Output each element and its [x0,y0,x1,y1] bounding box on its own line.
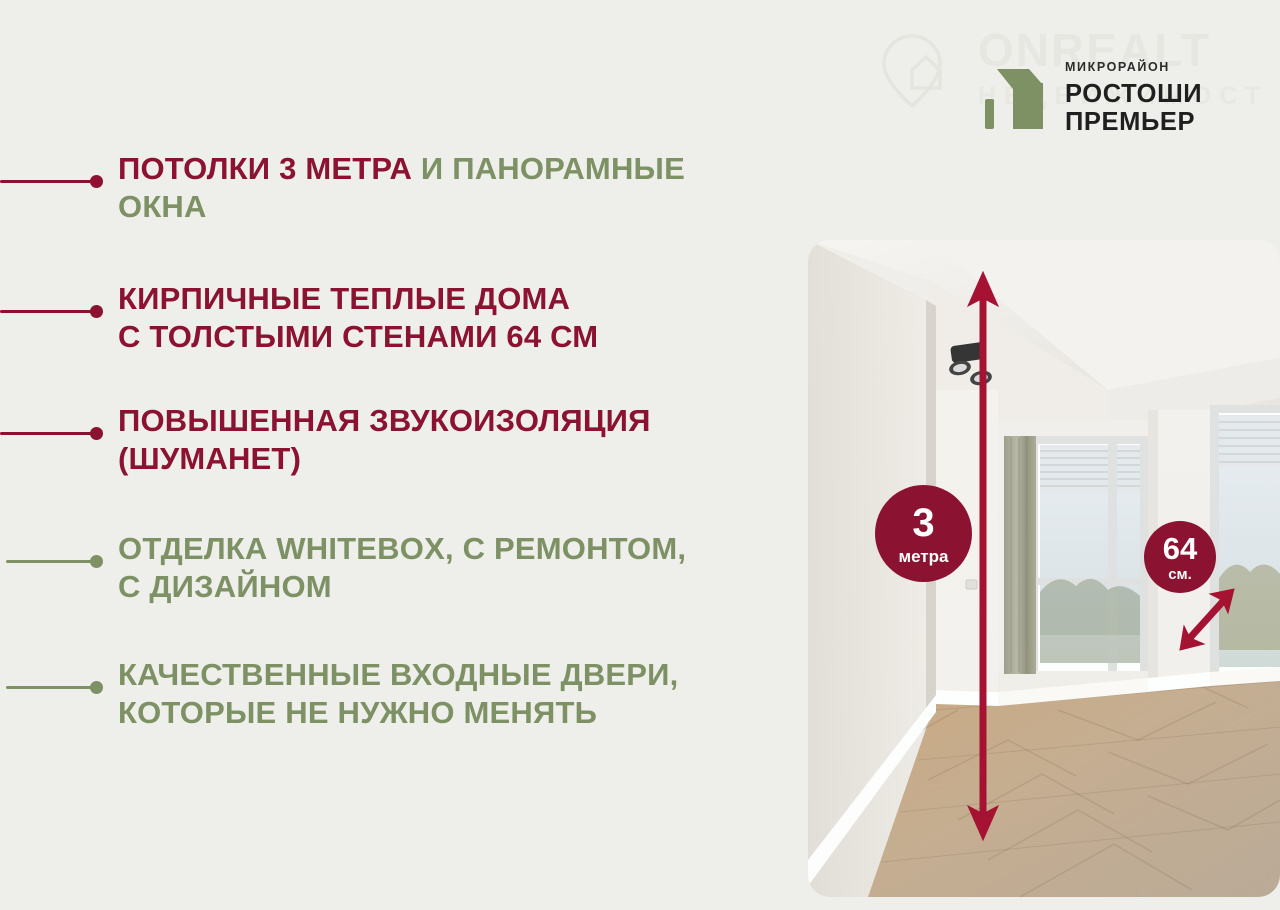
feature-line1: КАЧЕСТВЕННЫЕ ВХОДНЫЕ ДВЕРИ, [118,657,678,692]
feature-item-entrance-doors: КАЧЕСТВЕННЫЕ ВХОДНЫЕ ДВЕРИ, КОТОРЫЕ НЕ Н… [0,656,830,742]
brand-name-line1: РОСТОШИ [1065,80,1202,109]
feature-text: ПОТОЛКИ 3 МЕТРА И ПАНОРАМНЫЕ ОКНА [0,150,830,226]
feature-line2: С ТОЛСТЫМИ СТЕНАМИ 64 СМ [118,319,598,354]
feature-bullet-dot [90,305,103,318]
feature-text: КАЧЕСТВЕННЫЕ ВХОДНЫЕ ДВЕРИ, КОТОРЫЕ НЕ Н… [0,656,830,732]
feature-line1: ОТДЕЛКА WHITEBOX, С РЕМОНТОМ, [118,531,686,566]
feature-bullet-dot [90,175,103,188]
feature-line2: (ШУМАНЕТ) [118,441,301,476]
feature-line2: С ДИЗАЙНОМ [118,569,332,604]
feature-line1: ПОТОЛКИ 3 МЕТРА [118,151,421,186]
feature-text: КИРПИЧНЫЕ ТЕПЛЫЕ ДОМА С ТОЛСТЫМИ СТЕНАМИ… [0,280,830,356]
feature-bullet-dot [90,681,103,694]
feature-text: ПОВЫШЕННАЯ ЗВУКОИЗОЛЯЦИЯ (ШУМАНЕТ) [0,402,830,478]
feature-line1: ПОВЫШЕННАЯ ЗВУКОИЗОЛЯЦИЯ [118,403,651,438]
feature-item-soundproofing: ПОВЫШЕННАЯ ЗВУКОИЗОЛЯЦИЯ (ШУМАНЕТ) [0,402,830,488]
feature-rule [0,432,96,435]
feature-item-ceilings: ПОТОЛКИ 3 МЕТРА И ПАНОРАМНЫЕ ОКНА [0,150,830,236]
feature-line1-highlight: И ПАНОРАМНЫЕ [421,151,685,186]
feature-rule [0,180,96,183]
brand-kicker: МИКРОРАЙОН [1065,61,1202,74]
badge-value: 3 [912,503,934,543]
feature-line2: ОКНА [118,189,207,224]
feature-line2: КОТОРЫЕ НЕ НУЖНО МЕНЯТЬ [118,695,597,730]
brand-logo: МИКРОРАЙОН РОСТОШИ ПРЕМЬЕР [985,55,1202,137]
house-mark-icon [985,55,1051,135]
brand-name-line2: ПРЕМЬЕР [1065,108,1202,137]
badge-ceiling-height: 3 метра [875,485,972,582]
feature-bullet-dot [90,427,103,440]
feature-rule [6,686,96,689]
feature-rule [6,560,96,563]
feature-bullet-dot [90,555,103,568]
feature-item-whitebox-finish: ОТДЕЛКА WHITEBOX, С РЕМОНТОМ, С ДИЗАЙНОМ [0,530,830,616]
feature-text: ОТДЕЛКА WHITEBOX, С РЕМОНТОМ, С ДИЗАЙНОМ [0,530,830,606]
feature-item-brick-walls: КИРПИЧНЫЕ ТЕПЛЫЕ ДОМА С ТОЛСТЫМИ СТЕНАМИ… [0,280,830,366]
feature-list: ПОТОЛКИ 3 МЕТРА И ПАНОРАМНЫЕ ОКНА КИРПИЧ… [0,150,830,776]
badge-unit: см. [1168,567,1192,582]
feature-line1: КИРПИЧНЫЕ ТЕПЛЫЕ ДОМА [118,281,570,316]
badge-value: 64 [1163,533,1197,564]
badge-wall-thickness: 64 см. [1144,521,1216,593]
feature-rule [0,310,96,313]
badge-unit: метра [899,548,949,565]
promo-poster: ONREALT НЕДВИЖИМОСТЬ МИКРОРАЙОН РОСТОШИ … [0,0,1280,910]
